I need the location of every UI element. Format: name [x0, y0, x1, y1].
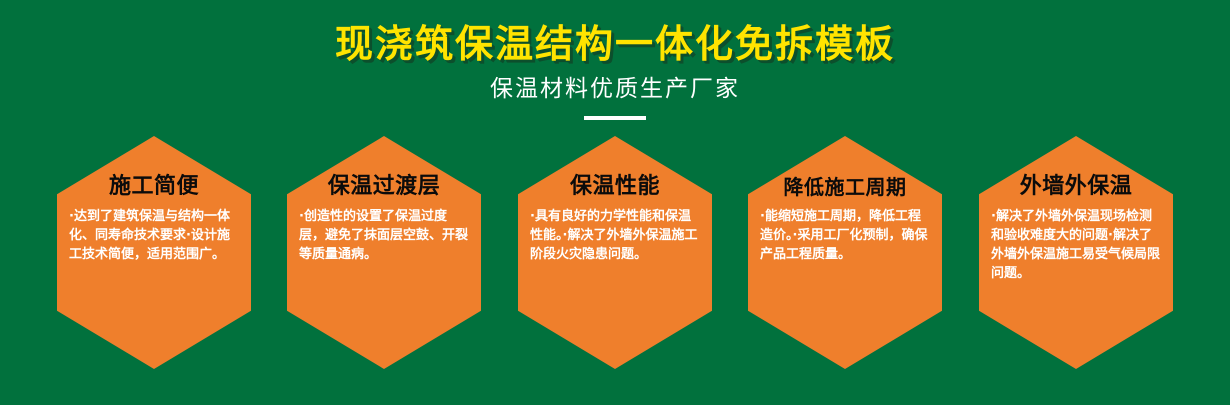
feature-body: ·解决了外墙外保温现场检测和验收难度大的问题·解决了外墙外保温施工易受气候局限问…	[985, 200, 1167, 283]
feature-hexagon[interactable]: 保温性能 ·具有良好的力学性能和保温性能。·解决了外墙外保温施工阶段火灾隐患问题…	[518, 136, 712, 369]
promo-banner: 现浇筑保温结构一体化免拆模板 保温材料优质生产厂家 施工简便 ·达到了建筑保温与…	[0, 0, 1230, 405]
feature-hexagon[interactable]: 施工简便 ·达到了建筑保温与结构一体化、同寿命技术要求·设计施工技术简便，适用范…	[57, 136, 251, 369]
feature-title: 保温性能	[524, 136, 706, 200]
feature-hexagon[interactable]: 外墙外保温 ·解决了外墙外保温现场检测和验收难度大的问题·解决了外墙外保温施工易…	[979, 136, 1173, 369]
feature-body: ·创造性的设置了保温过度层，避免了抹面层空鼓、开裂等质量通病。	[293, 200, 475, 264]
feature-title: 施工简便	[63, 136, 245, 200]
title-divider	[584, 116, 646, 120]
feature-title: 外墙外保温	[985, 136, 1167, 200]
feature-body: ·达到了建筑保温与结构一体化、同寿命技术要求·设计施工技术简便，适用范围广。	[63, 200, 245, 264]
feature-title: 降低施工周期	[754, 136, 936, 200]
feature-hexagon[interactable]: 降低施工周期 ·能缩短施工周期，降低工程造价。·采用工厂化预制，确保产品工程质量…	[748, 136, 942, 369]
feature-hexagon[interactable]: 保温过渡层 ·创造性的设置了保温过度层，避免了抹面层空鼓、开裂等质量通病。	[287, 136, 481, 369]
feature-body: ·具有良好的力学性能和保温性能。·解决了外墙外保温施工阶段火灾隐患问题。	[524, 200, 706, 264]
banner-header: 现浇筑保温结构一体化免拆模板 保温材料优质生产厂家	[0, 0, 1230, 120]
feature-body: ·能缩短施工周期，降低工程造价。·采用工厂化预制，确保产品工程质量。	[754, 200, 936, 264]
feature-title: 保温过渡层	[293, 136, 475, 200]
page-subtitle: 保温材料优质生产厂家	[0, 66, 1230, 103]
page-title: 现浇筑保温结构一体化免拆模板	[0, 0, 1230, 66]
feature-hexagon-row: 施工简便 ·达到了建筑保温与结构一体化、同寿命技术要求·设计施工技术简便，适用范…	[0, 136, 1230, 370]
